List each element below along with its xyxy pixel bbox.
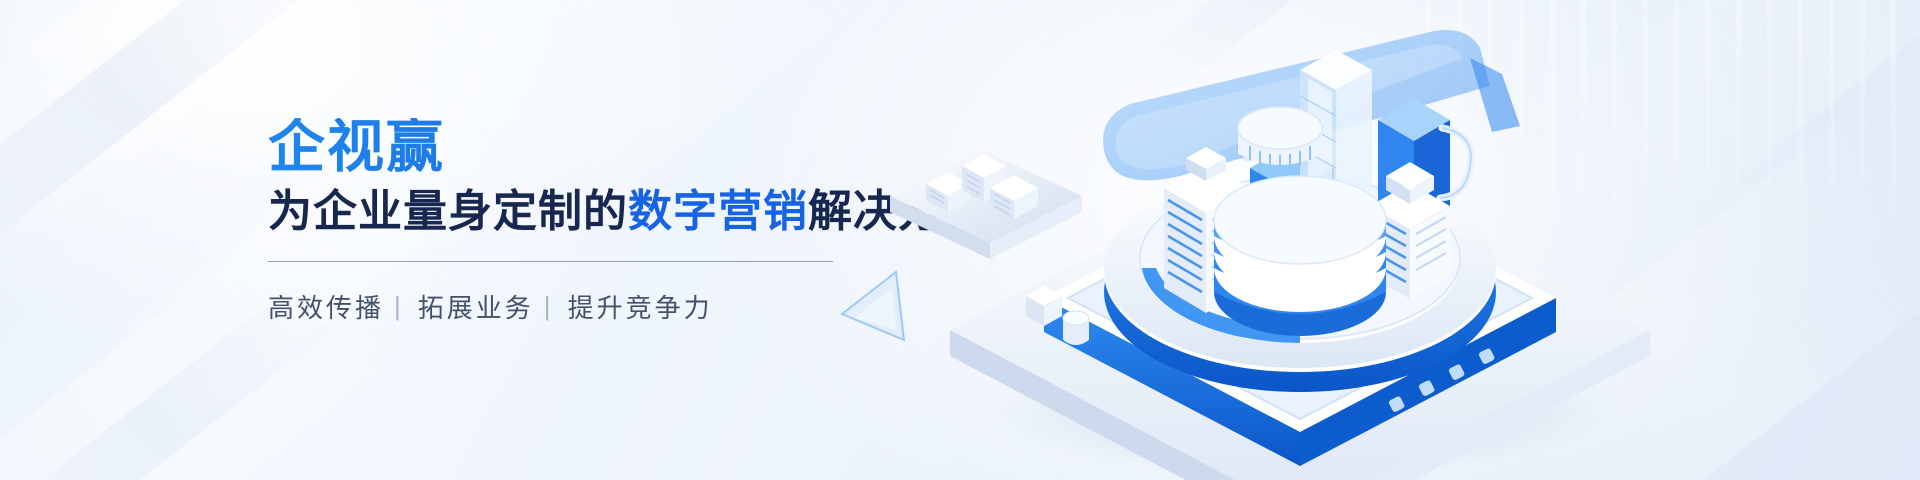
keyboard-tray <box>890 150 1082 259</box>
tagline-separator: | <box>544 291 554 322</box>
tagline-item-1: 高效传播 <box>268 288 384 325</box>
headline-highlight: 数字营销 <box>628 187 808 236</box>
tagline-separator: | <box>394 291 404 322</box>
data-cylinder-stack <box>1214 176 1386 336</box>
brand-title: 企视赢 <box>268 118 908 178</box>
front-knob <box>1063 311 1089 345</box>
headline: 为企业量身定制的数字营销解决方案 <box>268 186 908 237</box>
tagline-item-3: 提升竞争力 <box>568 288 713 325</box>
cylinder-tank <box>1238 107 1322 169</box>
triangle-glass-shape <box>842 272 904 340</box>
headline-before: 为企业量身定制的 <box>268 187 628 236</box>
hero-illustration <box>830 0 1920 480</box>
hero-copy: 企视赢 为企业量身定制的数字营销解决方案 高效传播 | 拓展业务 | 提升竞争力 <box>268 118 908 325</box>
headline-divider <box>268 261 833 262</box>
tagline: 高效传播 | 拓展业务 | 提升竞争力 <box>268 288 908 325</box>
tagline-item-2: 拓展业务 <box>418 288 534 325</box>
hero-banner: 企视赢 为企业量身定制的数字营销解决方案 高效传播 | 拓展业务 | 提升竞争力 <box>0 0 1920 480</box>
